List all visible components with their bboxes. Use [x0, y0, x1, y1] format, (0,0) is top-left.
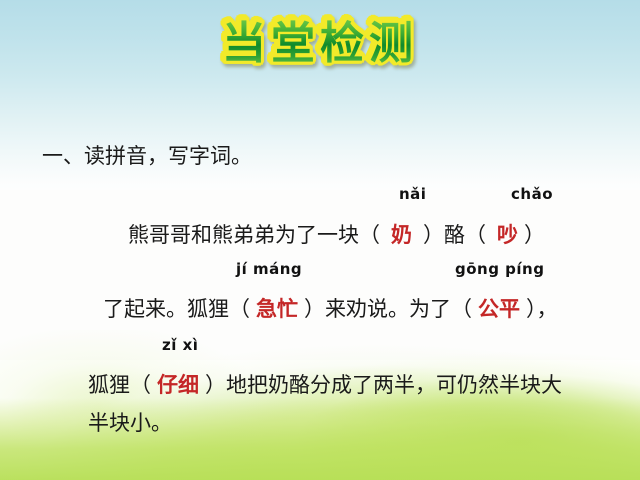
- sentence-2-part-2: ）来劝说。为了（: [304, 297, 472, 321]
- sentence-2-part-1: 了起来。狐狸（: [103, 297, 250, 321]
- slide-canvas: 当堂检测 一、读拼音，写字词。 nǎi chǎo 熊哥哥和熊弟弟为了一块（奶）酪…: [0, 0, 640, 480]
- sentence-line-3: 狐狸（仔细）地把奶酪分成了两半，可仍然半块大: [88, 370, 562, 400]
- pinyin-jimang: jí máng: [236, 260, 302, 278]
- answer-zixi: 仔细: [157, 373, 199, 397]
- sentence-line-1: 熊哥哥和熊弟弟为了一块（奶）酪（吵）: [128, 220, 545, 250]
- sentence-line-2: 了起来。狐狸（急忙）来劝说。为了（公平），: [103, 294, 558, 324]
- sentence-1-part-2: ）酪（: [423, 223, 486, 247]
- sentence-3-part-2: ）地把奶酪分成了两半，可仍然半块大: [205, 373, 562, 397]
- exercise-content: 一、读拼音，写字词。 nǎi chǎo 熊哥哥和熊弟弟为了一块（奶）酪（吵） j…: [0, 0, 640, 480]
- sentence-line-4: 半块小。: [88, 408, 172, 438]
- sentence-2-part-3: ），: [526, 297, 558, 321]
- question-heading: 一、读拼音，写字词。: [42, 143, 252, 169]
- pinyin-nai: nǎi: [399, 185, 426, 203]
- answer-chao: 吵: [497, 223, 518, 247]
- sentence-3-part-1: 狐狸（: [88, 373, 151, 397]
- pinyin-chao: chǎo: [511, 185, 553, 203]
- pinyin-zixi: zǐ xì: [162, 336, 198, 354]
- sentence-1-part-1: 熊哥哥和熊弟弟为了一块（: [128, 223, 380, 247]
- answer-jimang: 急忙: [256, 297, 298, 321]
- sentence-1-part-3: ）: [524, 223, 545, 247]
- answer-nai: 奶: [391, 223, 412, 247]
- answer-gongping: 公平: [478, 297, 520, 321]
- pinyin-gongping: gōng píng: [455, 260, 544, 278]
